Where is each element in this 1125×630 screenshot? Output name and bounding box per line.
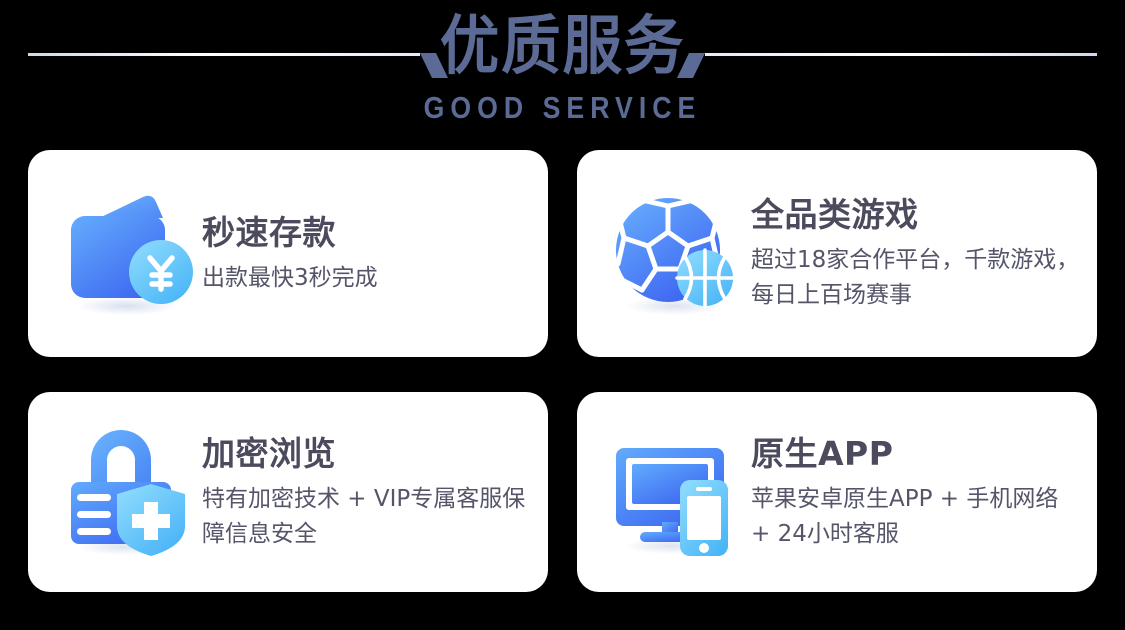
card-title: 全品类游戏 xyxy=(751,194,1087,236)
card-description: 超过18家合作平台，千款游戏，每日上百场赛事 xyxy=(751,243,1081,313)
card-title: 原生APP xyxy=(751,433,1087,475)
feature-card-grid: 秒速存款 出款最快3秒完成 xyxy=(28,150,1097,592)
page-header: 优质服务 GOOD SERVICE xyxy=(0,0,1125,145)
card-title: 加密浏览 xyxy=(202,433,538,475)
icon-container xyxy=(52,417,202,567)
card-description: 特有加密技术 + VIP专属客服保障信息安全 xyxy=(202,482,532,552)
promo-page: 优质服务 GOOD SERVICE xyxy=(0,0,1125,630)
icon-container xyxy=(601,417,751,567)
lock-shield-icon xyxy=(57,422,197,562)
card-text: 原生APP 苹果安卓原生APP + 手机网络 + 24小时客服 xyxy=(751,433,1097,552)
soccer-basketball-icon xyxy=(606,184,746,324)
wallet-yen-icon xyxy=(57,184,197,324)
feature-card-games[interactable]: 全品类游戏 超过18家合作平台，千款游戏，每日上百场赛事 xyxy=(577,150,1097,357)
card-text: 秒速存款 出款最快3秒完成 xyxy=(202,212,548,296)
card-text: 加密浏览 特有加密技术 + VIP专属客服保障信息安全 xyxy=(202,433,548,552)
icon-container xyxy=(52,179,202,329)
feature-card-deposit[interactable]: 秒速存款 出款最快3秒完成 xyxy=(28,150,548,357)
card-description: 出款最快3秒完成 xyxy=(202,261,532,296)
feature-card-native-app[interactable]: 原生APP 苹果安卓原生APP + 手机网络 + 24小时客服 xyxy=(577,392,1097,592)
page-subtitle: GOOD SERVICE xyxy=(79,90,1047,126)
icon-container xyxy=(601,179,751,329)
page-title: 优质服务 xyxy=(39,8,1085,86)
card-description: 苹果安卓原生APP + 手机网络 + 24小时客服 xyxy=(751,482,1081,552)
monitor-phone-icon xyxy=(606,422,746,562)
title-block: 优质服务 GOOD SERVICE xyxy=(0,8,1125,126)
feature-card-encryption[interactable]: 加密浏览 特有加密技术 + VIP专属客服保障信息安全 xyxy=(28,392,548,592)
card-text: 全品类游戏 超过18家合作平台，千款游戏，每日上百场赛事 xyxy=(751,194,1097,313)
card-title: 秒速存款 xyxy=(202,212,538,254)
